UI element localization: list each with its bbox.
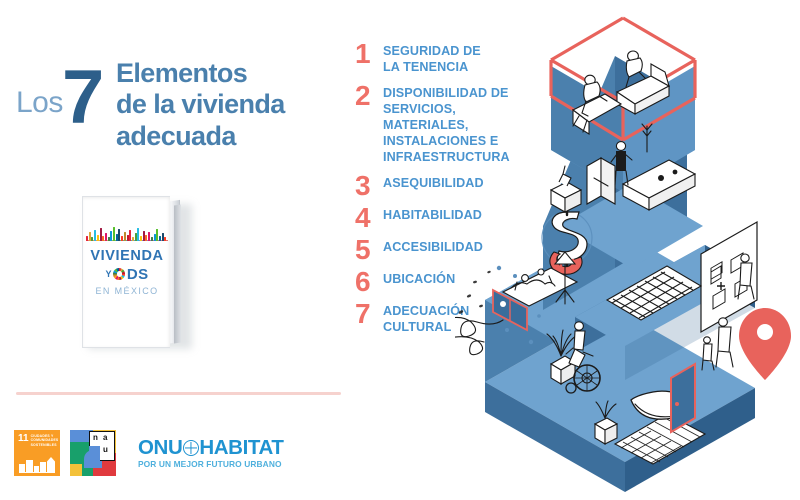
title-line-1: Elementos: [116, 58, 285, 89]
sdg-11-cityscape-icon: [19, 453, 55, 473]
list-item-number: 4: [355, 206, 375, 230]
list-item-number: 3: [355, 174, 375, 198]
sdg-11-number: 11: [18, 434, 29, 444]
list-item-number: 1: [355, 42, 375, 66]
onu-habitat-wordmark: ONU HABITAT POR UN MEJOR FUTURO URBANO: [138, 438, 283, 468]
sdg-11-text: CIUDADES Y COMUNIDADES SOSTENIBLES: [31, 434, 59, 447]
cover-acronym: DS: [127, 267, 149, 282]
onu-habitat-name: ONU HABITAT: [138, 438, 283, 459]
onu-habitat-tagline: POR UN MEJOR FUTURO URBANO: [138, 460, 283, 468]
cover-text-block: VIVIENDA Y DS EN MÉXICO: [83, 249, 171, 296]
un-globe-icon: [183, 440, 199, 456]
cover-conjunction: Y: [105, 270, 111, 279]
cover-ods-row: Y DS: [83, 267, 171, 282]
sdg-11-logo: 11 CIUDADES Y COMUNIDADES SOSTENIBLES: [14, 430, 60, 476]
cover-subtitle: EN MÉXICO: [83, 287, 171, 296]
habitat-word: HABITAT: [199, 438, 283, 459]
onu-word: ONU: [138, 438, 182, 459]
title-prefix: Los: [16, 88, 63, 118]
list-item-number: 6: [355, 270, 375, 294]
list-item-number: 2: [355, 84, 375, 108]
list-item-number: 5: [355, 238, 375, 262]
divider: [16, 392, 341, 395]
sdg-color-wheel-icon: [113, 268, 125, 280]
logo-row: 11 CIUDADES Y COMUNIDADES SOSTENIBLES n: [14, 424, 283, 482]
cover-title-text: VIVIENDA: [83, 249, 171, 264]
left-panel: Los 7 Elementos de la vivienda adecuada …: [0, 0, 350, 500]
book-spine: [174, 204, 181, 343]
title-line-3: adecuada: [116, 121, 285, 152]
title-line-2: de la vivienda: [116, 89, 285, 120]
title-number: 7: [62, 60, 101, 136]
cover-skyline-wave-icon: [86, 227, 168, 247]
sdg-11-header: 11 CIUDADES Y COMUNIDADES SOSTENIBLES: [18, 434, 56, 447]
title-lines: Elementos de la vivienda adecuada: [116, 58, 285, 152]
onu-habitat-mexico-nau-icon: n a u: [70, 430, 116, 476]
isometric-staircase-house-illustration: [455, 0, 800, 500]
nau-monogram: n a u: [89, 431, 115, 461]
list-item-label: UBICACIÓN: [383, 270, 455, 288]
page-title: Los 7 Elementos de la vivienda adecuada: [14, 38, 344, 168]
location-pin-marker: [739, 308, 791, 380]
book-mockup: VIVIENDA Y DS EN MÉXICO: [82, 196, 194, 351]
list-item-number: 7: [355, 302, 375, 326]
book-front-cover: VIVIENDA Y DS EN MÉXICO: [82, 196, 170, 348]
